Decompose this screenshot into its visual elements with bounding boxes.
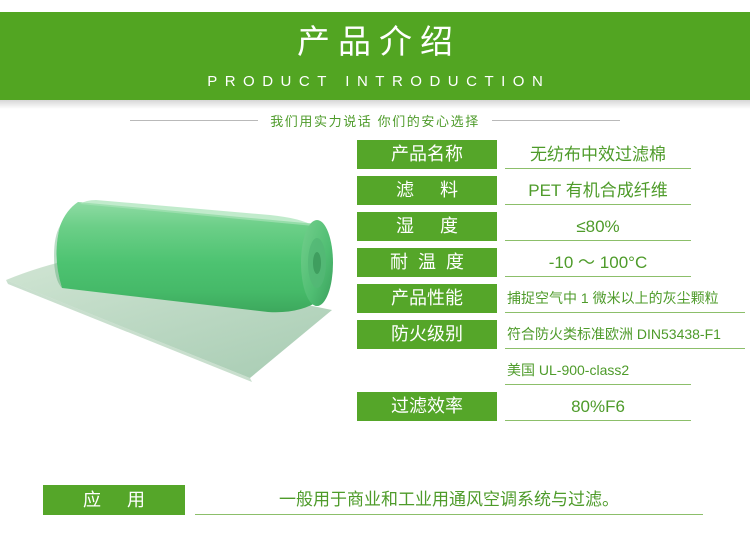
spec-row-performance: 产品性能 捕捉空气中 1 微米以上的灰尘颗粒 [357,284,747,320]
spec-value-fire-rating: 符合防火类标准欧洲 DIN53438-F1 [505,320,745,349]
tagline: 我们用实力说话 你们的安心选择 [0,108,750,132]
filter-media-roll-illustration [0,160,355,420]
spec-value-filtration-efficiency: 80%F6 [505,392,691,421]
application-label: 应用 [43,485,185,515]
spec-value-filter-material: PET 有机合成纤维 [505,176,691,205]
spec-label-filter-material: 滤料 [357,176,497,205]
tagline-text: 我们用实力说话 你们的安心选择 [258,111,492,130]
spec-value-temperature: -10 ～ 100°C [505,248,691,277]
spec-value-product-name: 无纺布中效过滤棉 [505,140,691,169]
spec-row-humidity: 湿度 ≤80% [357,212,747,248]
spec-row-fire-rating: 防火级别 符合防火类标准欧洲 DIN53438-F1 [357,320,747,356]
tagline-rule-right [492,120,620,121]
spec-row-filtration-efficiency: 过滤效率 80%F6 [357,392,747,428]
roll-core [313,252,321,274]
spec-label-filtration-efficiency: 过滤效率 [357,392,497,421]
spec-label-fire-rating: 防火级别 [357,320,497,349]
spec-label-product-name: 产品名称 [357,140,497,169]
page-subtitle-english: PRODUCT INTRODUCTION [0,58,750,89]
spec-label-performance: 产品性能 [357,284,497,313]
spec-row-temperature: 耐温度 -10 ～ 100°C [357,248,747,284]
specification-table: 产品名称 无纺布中效过滤棉 滤料 PET 有机合成纤维 湿度 ≤80% 耐温度 … [357,140,747,428]
spec-value-humidity: ≤80% [505,212,691,241]
product-image [0,160,355,420]
page-title: 产品介绍 [0,12,750,58]
spec-label-humidity: 湿度 [357,212,497,241]
spec-value-performance: 捕捉空气中 1 微米以上的灰尘颗粒 [505,284,745,313]
application-row: 应用 一般用于商业和工业用通风空调系统与过滤。 [43,485,703,517]
spec-value-fire-rating-us: 美国 UL-900-class2 [505,356,691,385]
spec-row-fire-rating-us: 美国 UL-900-class2 [357,356,747,392]
application-value: 一般用于商业和工业用通风空调系统与过滤。 [195,485,703,515]
spec-row-filter-material: 滤料 PET 有机合成纤维 [357,176,747,212]
header-banner: 产品介绍 PRODUCT INTRODUCTION [0,12,750,100]
spec-label-temperature: 耐温度 [357,248,497,277]
tagline-rule-left [130,120,258,121]
spec-row-product-name: 产品名称 无纺布中效过滤棉 [357,140,747,176]
